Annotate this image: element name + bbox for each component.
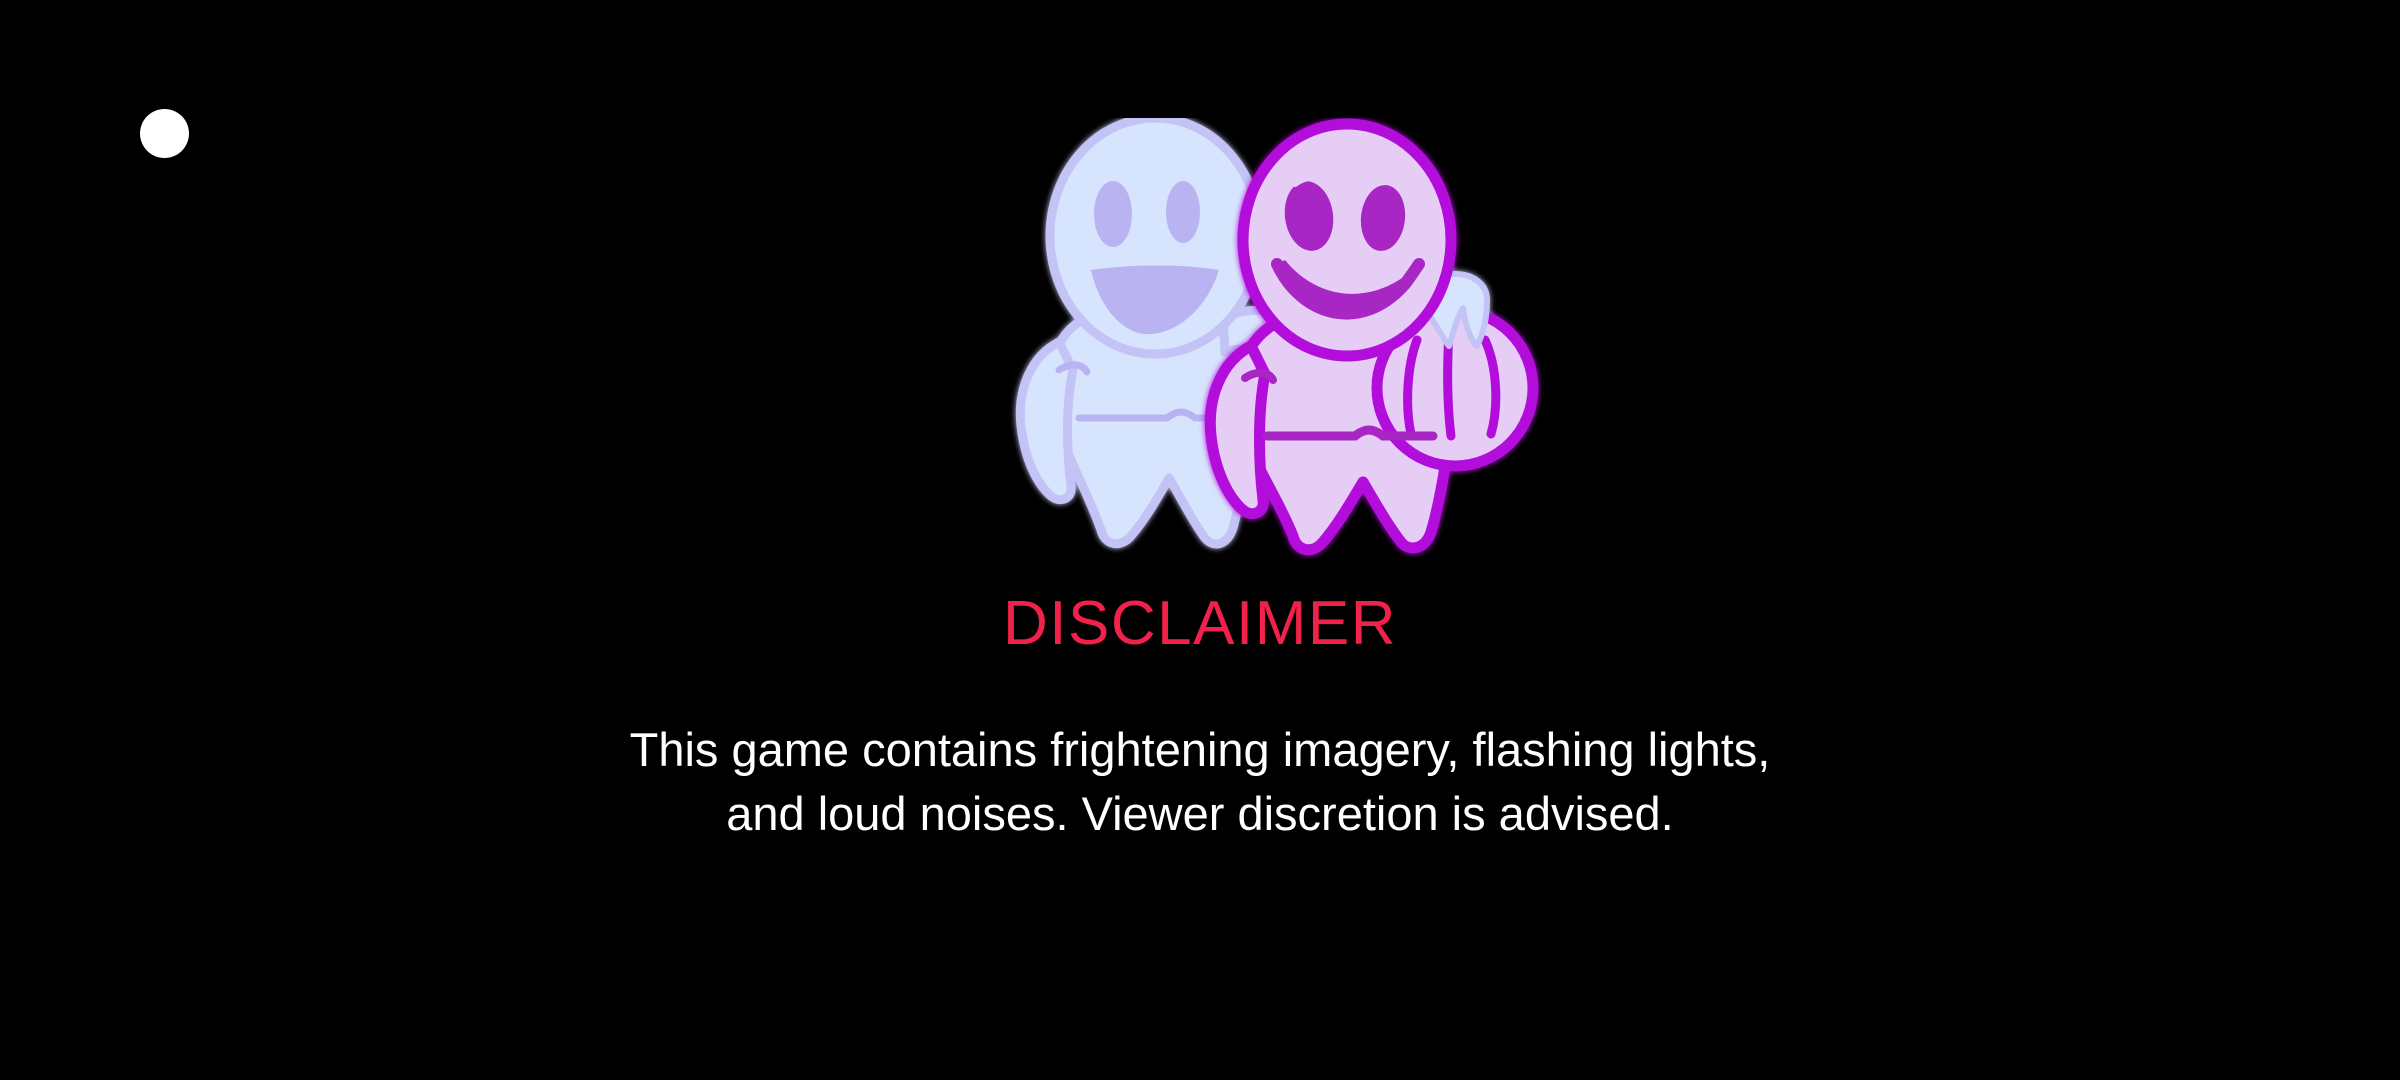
disclaimer-content: DISCLAIMER This game contains frightenin…: [0, 0, 2400, 1080]
mascot-illustration: [955, 118, 1595, 588]
disclaimer-title: DISCLAIMER: [0, 588, 2400, 660]
disclaimer-body-line-1: This game contains frightening imagery, …: [0, 718, 2400, 782]
game-disclaimer-screen: DISCLAIMER This game contains frightenin…: [0, 0, 2400, 1080]
disclaimer-body-text: This game contains frightening imagery, …: [0, 718, 2400, 846]
disclaimer-body-line-2: and loud noises. Viewer discretion is ad…: [0, 782, 2400, 846]
purple-blob-character: [1210, 124, 1533, 550]
blue-eye-right: [1166, 181, 1200, 243]
blue-eye-left: [1094, 181, 1132, 247]
